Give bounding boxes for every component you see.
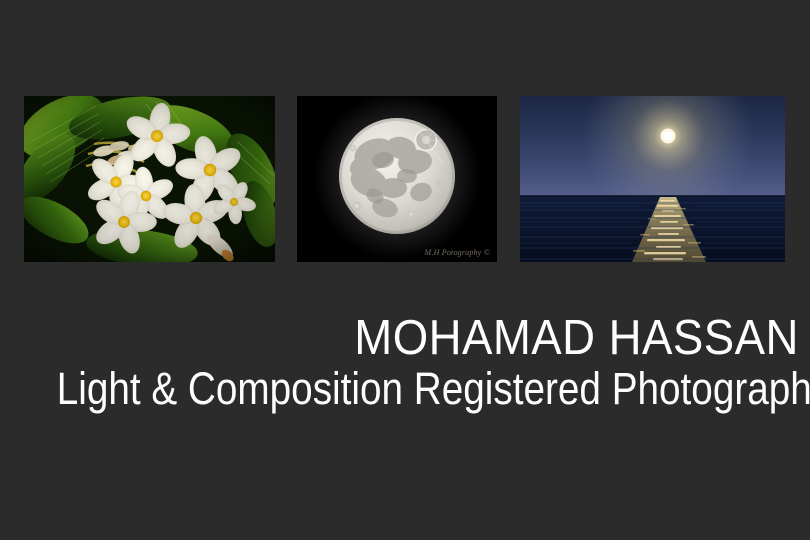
sea-photo-artwork — [520, 96, 785, 262]
moon-photo-watermark: M.H Potography © — [425, 248, 491, 257]
title-block: MOHAMAD HASSAN Light & Composition Regis… — [0, 312, 810, 414]
photographer-banner: M.H Potography © — [0, 0, 810, 540]
moon-photo-artwork — [297, 96, 497, 262]
page-title: MOHAMAD HASSAN — [57, 312, 810, 364]
page-subtitle: Light & Composition Registered Photograp… — [57, 364, 754, 414]
flowers-photo-artwork — [24, 96, 275, 262]
photo-flowers[interactable] — [24, 96, 275, 262]
photo-moon[interactable]: M.H Potography © — [297, 96, 497, 262]
photo-sea[interactable] — [520, 96, 785, 262]
